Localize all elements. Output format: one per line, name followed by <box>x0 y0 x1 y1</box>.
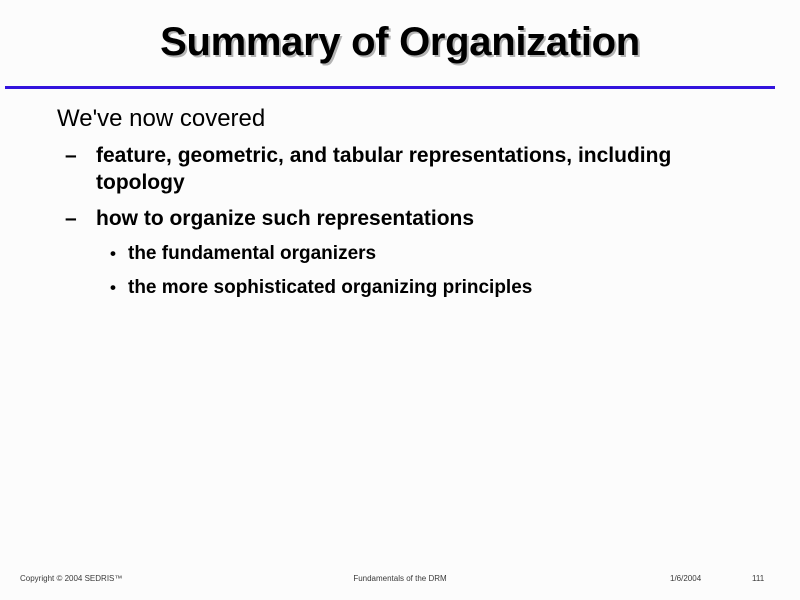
slide-footer: Copyright © 2004 SEDRIS™ Fundamentals of… <box>0 574 800 588</box>
spacer <box>0 198 800 205</box>
bullet-text: the more sophisticated organizing princi… <box>128 277 532 298</box>
dash-bullet-icon: – <box>65 205 77 232</box>
spacer <box>0 268 800 275</box>
page-title: Summary of Organization <box>0 20 800 65</box>
slide: Summary of Organization We've now covere… <box>0 0 800 600</box>
bullet-level3: • the fundamental organizers <box>0 241 800 266</box>
dash-bullet-icon: – <box>65 142 77 169</box>
bullet-level2: – feature, geometric, and tabular repres… <box>0 142 800 196</box>
bullet-text: the fundamental organizers <box>128 243 376 264</box>
intro-text: We've now covered <box>0 104 800 134</box>
dot-bullet-icon: • <box>110 275 116 300</box>
bullet-level2: – how to organize such representations <box>0 205 800 232</box>
dot-bullet-icon: • <box>110 241 116 266</box>
footer-date: 1/6/2004 <box>670 574 701 583</box>
bullet-text: feature, geometric, and tabular represen… <box>96 144 671 194</box>
bullet-level3: • the more sophisticated organizing prin… <box>0 275 800 300</box>
page-number: 111 <box>752 574 764 583</box>
slide-body: We've now covered – feature, geometric, … <box>0 104 800 302</box>
spacer <box>0 234 800 241</box>
bullet-text: how to organize such representations <box>96 207 474 230</box>
title-divider <box>5 86 775 89</box>
